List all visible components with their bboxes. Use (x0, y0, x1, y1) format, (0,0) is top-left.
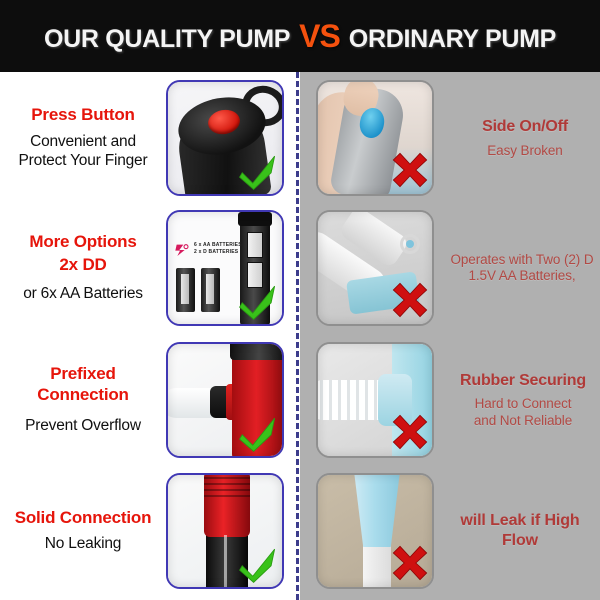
right-row-battery-operation: Operates with Two (2) D 1.5V AA Batterie… (300, 202, 600, 334)
header-right-title: ORDINARY PUMP (349, 25, 556, 54)
right-row-2-subtext-line2: 1.5V AA Batteries, (448, 268, 596, 284)
right-row-4-image (316, 473, 434, 589)
battery-brand-logo-icon (173, 242, 191, 258)
check-mark-icon (237, 280, 279, 322)
left-row-2-text: More Options 2x DD or 6x AA Batteries (0, 232, 166, 303)
right-row-3-subtext-line1: Hard to Connect (450, 396, 596, 412)
left-row-4-image (166, 473, 284, 589)
comparison-infographic: OUR QUALITY PUMP VS ORDINARY PUMP Press … (0, 0, 600, 600)
left-row-2-heading-line1: More Options (6, 232, 160, 253)
battery-caption-line2: 2 x D BATTERIES (194, 249, 242, 256)
right-row-3-subtext-line2: and Not Reliable (450, 413, 596, 429)
left-row-2-heading-line2: 2x DD (6, 255, 160, 276)
check-mark-icon (237, 150, 279, 192)
right-row-2-text: Operates with Two (2) D 1.5V AA Batterie… (444, 252, 600, 285)
left-row-3-heading-line1: Prefixed (6, 364, 160, 385)
header-banner: OUR QUALITY PUMP VS ORDINARY PUMP (0, 0, 600, 72)
right-row-3-text: Rubber Securing Hard to Connect and Not … (446, 371, 600, 429)
right-row-rubber-securing: Rubber Securing Hard to Connect and Not … (300, 334, 600, 466)
cross-mark-icon (390, 543, 430, 583)
right-panel-ordinary-pump: Side On/Off Easy Broken (300, 72, 600, 600)
left-row-solid-connection: Solid Connection No Leaking (0, 465, 297, 597)
left-row-4-heading: Solid Connection (6, 508, 160, 529)
right-row-2-subtext-line1: Operates with Two (2) D (448, 252, 596, 268)
cross-mark-icon (390, 412, 430, 452)
right-row-4-subtext: will Leak if High Flow (444, 511, 596, 550)
right-row-side-onoff: Side On/Off Easy Broken (300, 72, 600, 204)
left-row-press-button: Press Button Convenient and Protect Your… (0, 72, 297, 204)
left-row-1-subtext-line1: Convenient and (6, 133, 160, 152)
left-row-3-subtext: Prevent Overflow (6, 417, 160, 436)
right-row-high-flow-leak: will Leak if High Flow (300, 465, 600, 597)
right-row-1-subtext: Easy Broken (454, 143, 596, 159)
battery-caption-line1: 6 x AA BATTERIES (194, 242, 242, 249)
battery-caption: 6 x AA BATTERIES 2 x D BATTERIES (194, 242, 242, 256)
left-row-3-image (166, 342, 284, 458)
left-row-more-options: More Options 2x DD or 6x AA Batteries (0, 202, 297, 334)
left-row-4-subtext: No Leaking (6, 535, 160, 554)
check-mark-icon (237, 412, 279, 454)
header-left-title: OUR QUALITY PUMP (44, 25, 290, 54)
header-vs-label: VS (290, 18, 349, 55)
right-row-4-text: will Leak if High Flow (440, 511, 600, 550)
left-row-1-subtext-line2: Protect Your Finger (6, 152, 160, 171)
right-row-1-image (316, 80, 434, 196)
left-row-3-heading-line2: Connection (6, 385, 160, 406)
left-panel-our-quality-pump: Press Button Convenient and Protect Your… (0, 72, 297, 600)
header-title-group: OUR QUALITY PUMP VS ORDINARY PUMP (44, 18, 556, 55)
cross-mark-icon (390, 280, 430, 320)
right-row-3-image (316, 342, 434, 458)
left-row-4-text: Solid Connection No Leaking (0, 508, 166, 555)
center-dashed-divider (296, 72, 299, 600)
right-row-1-heading: Side On/Off (454, 117, 596, 137)
left-row-1-text: Press Button Convenient and Protect Your… (0, 105, 166, 171)
right-row-1-text: Side On/Off Easy Broken (450, 117, 600, 159)
left-row-2-image: 6 x AA BATTERIES 2 x D BATTERIES (166, 210, 284, 326)
left-row-prefixed-connection: Prefixed Connection Prevent Overflow (0, 334, 297, 466)
left-row-1-image (166, 80, 284, 196)
left-row-3-text: Prefixed Connection Prevent Overflow (0, 364, 166, 435)
left-row-2-subtext: or 6x AA Batteries (6, 285, 160, 304)
right-row-3-heading: Rubber Securing (450, 371, 596, 391)
cross-mark-icon (390, 150, 430, 190)
left-row-1-heading: Press Button (6, 105, 160, 126)
right-row-2-image (316, 210, 434, 326)
check-mark-icon (237, 543, 279, 585)
